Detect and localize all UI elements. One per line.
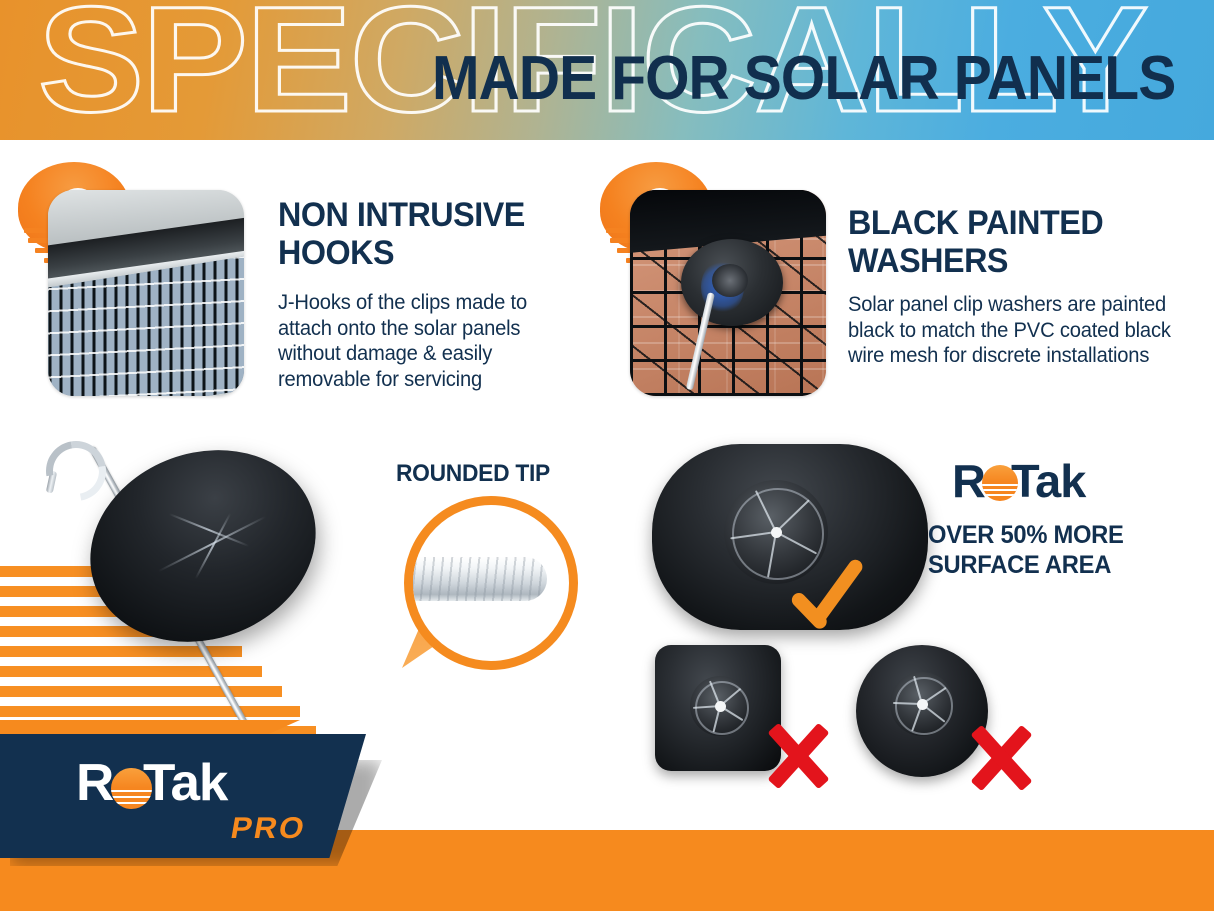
feature-title-non-intrusive-hooks: NON INTRUSIVE HOOKS <box>278 196 563 272</box>
photo-solar-panel-hook <box>48 190 244 396</box>
header-headline: MADE FOR SOLAR PANELS <box>432 48 1175 110</box>
rotak-wordmark-tak: Tak <box>143 760 227 806</box>
feature-title-black-painted-washers: BLACK PAINTED WASHERS <box>848 204 1181 280</box>
rotak-wordmark-r: R <box>76 760 113 806</box>
washer-hub-round <box>890 672 954 736</box>
rotak-wordmark-tak: Tak <box>1011 458 1085 504</box>
check-icon <box>788 552 874 638</box>
rotak-sun-o-icon <box>111 768 152 809</box>
clip-j-hook <box>34 429 118 513</box>
rounded-tip-closeup <box>404 557 547 601</box>
rotak-wordmark-r: R <box>952 458 985 504</box>
x-icon <box>760 718 836 794</box>
rounded-tip-label: ROUNDED TIP <box>396 460 550 488</box>
washer-hub-square <box>690 676 750 736</box>
surface-area-claim: OVER 50% MORE SURFACE AREA <box>928 520 1175 580</box>
header-banner: SPECIFICALLY MADE FOR SOLAR PANELS <box>0 0 1214 140</box>
infographic-page: SPECIFICALLY MADE FOR SOLAR PANELS NON <box>0 0 1214 911</box>
rotak-pro-logo: RoTak PRO <box>76 760 336 840</box>
x-icon <box>963 720 1039 796</box>
magnifier-circle-icon <box>404 496 578 670</box>
rotak-logo-right: RoTak <box>952 458 1202 508</box>
footer-orange-accent <box>0 720 300 736</box>
rotak-sun-o-icon <box>982 465 1018 501</box>
photo-black-washer-mesh <box>630 190 826 396</box>
pro-suffix-label: PRO <box>228 812 309 846</box>
feature-body-non-intrusive-hooks: J-Hooks of the clips made to attach onto… <box>278 290 566 392</box>
feature-body-black-painted-washers: Solar panel clip washers are painted bla… <box>848 292 1184 369</box>
